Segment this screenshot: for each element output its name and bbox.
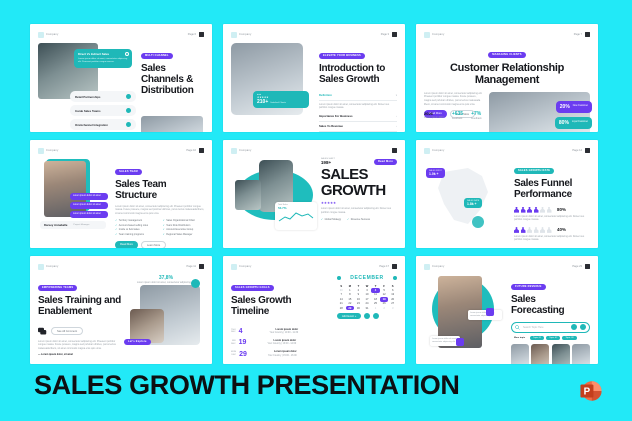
calendar-day[interactable]: 30 bbox=[354, 306, 363, 310]
slide-thumbnail-sales-channels[interactable]: Company Page 6 Direct Vs Indirect Sales … bbox=[30, 24, 212, 132]
timeline-event[interactable]: FRIDEC 19 Lorem ipsum dolor Your Country… bbox=[231, 339, 331, 346]
logo: Company bbox=[38, 32, 59, 38]
slide-title-line1: SALES bbox=[321, 167, 397, 183]
page-number: Page 11 bbox=[187, 265, 196, 268]
page-number: Page 23 bbox=[572, 265, 582, 268]
stat-label: Satisfied Clients bbox=[270, 102, 286, 104]
stat-item: +635 Feedback bbox=[452, 111, 463, 120]
stat-card: ●●● ★★★★★ 210+ Satisfied Clients bbox=[253, 91, 309, 108]
logo-label: Company bbox=[239, 265, 252, 268]
growth-icon bbox=[191, 279, 200, 288]
metric-pct: 80% bbox=[557, 207, 566, 212]
kpi-value: 20% bbox=[560, 104, 570, 110]
add-event-button[interactable]: Add Event + bbox=[337, 313, 361, 319]
event-day: 19 bbox=[239, 339, 247, 346]
check-icon bbox=[126, 108, 131, 113]
logo: Company bbox=[38, 264, 59, 270]
slide-title: Sales Growth Timeline bbox=[231, 296, 331, 318]
read-more-button[interactable]: Read More bbox=[374, 159, 397, 165]
person-card: Darsey Annabelle Project Manager bbox=[40, 221, 106, 229]
calendar-week-row: 28293031123 bbox=[337, 306, 397, 310]
search-bar[interactable]: Search Topic Here bbox=[511, 322, 590, 333]
badge: MULTI CHANNEL bbox=[141, 53, 173, 59]
logo-mark-icon bbox=[231, 32, 237, 38]
logo-mark-icon bbox=[231, 148, 237, 154]
logo: Company bbox=[231, 32, 252, 38]
logo: Company bbox=[424, 264, 445, 270]
chevron-right-icon: › bbox=[396, 125, 397, 128]
person-icon bbox=[527, 207, 532, 213]
kpi-label: New Customer bbox=[573, 105, 588, 108]
svg-text:P: P bbox=[584, 386, 591, 397]
list-item-label: Retail Partnerships bbox=[75, 95, 101, 99]
card-text: Lorem ipsum dolor sit amet, consectetur … bbox=[78, 58, 128, 65]
phone-mockup-back bbox=[235, 180, 261, 210]
metric-desc: Lorem ipsum dolor sit amet, consectetur … bbox=[514, 215, 590, 222]
hamburger-icon[interactable] bbox=[585, 264, 590, 269]
slide-photo-secondary bbox=[141, 116, 203, 132]
body-text: Lorem ipsum dolor sit amet, consectetur … bbox=[38, 340, 122, 351]
map-pin-icon bbox=[472, 216, 484, 228]
bullet-item: Account-based selling roles bbox=[115, 224, 156, 227]
map-tag-key: SALES RATE bbox=[467, 200, 479, 202]
quote: — Lorem ipsum dolor, sit amet bbox=[38, 353, 122, 356]
explore-button-label: Let's Explore bbox=[124, 339, 151, 345]
page-title: SALES GROWTH PRESENTATION bbox=[34, 370, 460, 401]
event-title: Lorem ipsum dolor bbox=[275, 328, 298, 331]
slide-thumbnail-grid: Company Page 6 Direct Vs Indirect Sales … bbox=[30, 24, 602, 366]
badge: SALES TEAM bbox=[115, 169, 142, 175]
calendar-action-icon[interactable] bbox=[364, 313, 370, 319]
search-placeholder: Search Topic Here bbox=[523, 326, 568, 329]
event-weekday-label: FRI bbox=[232, 340, 236, 342]
slide-thumbnail-funnel[interactable]: Company Page 14 SALES FIRST 1.0k + bbox=[416, 140, 598, 248]
person-icon bbox=[521, 207, 526, 213]
logo-mark-icon bbox=[424, 264, 430, 270]
page-number: Page 10 bbox=[186, 149, 196, 152]
body-text: Lorem ipsum dolor sit amet, consectetur … bbox=[424, 92, 484, 106]
timeline-event[interactable]: MONDEC 29 Lorem ipsum dolor Your Country… bbox=[231, 350, 331, 357]
page-number: Page 17 bbox=[379, 265, 389, 268]
slide-header: Company Page 6 bbox=[38, 30, 204, 39]
slide-thumbnail-introduction[interactable]: Company Page 3 Let's Grow ●●● ★★★★★ bbox=[223, 24, 405, 132]
thumbnail[interactable] bbox=[572, 344, 590, 364]
hamburger-icon[interactable] bbox=[585, 148, 590, 153]
chat-icon bbox=[456, 338, 464, 346]
check-icon bbox=[126, 94, 131, 99]
card-title: Direct Vs Indirect Sales bbox=[78, 52, 128, 56]
calendar-body: 3012345678910111213141516171819202122232… bbox=[337, 288, 397, 310]
event-meta: Your Country | 10:00 - 11:30 bbox=[270, 332, 299, 334]
event-weekday-label: MON bbox=[231, 351, 236, 353]
badge: FUTURE REVENUE bbox=[511, 284, 546, 290]
event-month-label: DEC bbox=[231, 331, 236, 333]
slide-title: Sales Forecasting bbox=[511, 295, 590, 317]
person-icon-empty bbox=[527, 227, 532, 233]
slide-title: Sales Funnel Performance bbox=[514, 179, 590, 201]
page-number: Page 7 bbox=[574, 33, 582, 36]
stat-label: Feedback bbox=[471, 117, 482, 120]
search-submit-icon[interactable] bbox=[580, 324, 586, 330]
thumbnail-row bbox=[511, 344, 590, 364]
logo-label: Company bbox=[46, 149, 59, 152]
logo-mark-icon bbox=[38, 264, 44, 270]
slide-thumbnail-forecasting[interactable]: Company Page 23 Lorem ipsum dolor sit am… bbox=[416, 256, 598, 364]
slide-title: Sales Training and Enablement bbox=[38, 296, 122, 318]
logo: Company bbox=[424, 32, 445, 38]
logo-label: Company bbox=[432, 265, 445, 268]
person-icon bbox=[534, 207, 539, 213]
slide-header: Company Page 11 bbox=[38, 262, 204, 271]
kpi-label: Loyal Customer bbox=[572, 121, 588, 124]
person-icon-empty bbox=[547, 207, 552, 213]
bullet-item: Inside vs field sales bbox=[115, 228, 156, 231]
map-tag-value: 1.8k + bbox=[467, 202, 479, 206]
calendar-action-icon[interactable] bbox=[373, 313, 379, 319]
event-weekday: FRIDEC bbox=[231, 340, 236, 346]
chevron-right-icon: › bbox=[396, 115, 397, 118]
person-icon-empty bbox=[534, 227, 539, 233]
logo-mark-icon bbox=[38, 32, 44, 38]
bullet-item: Account Executive Group bbox=[163, 228, 204, 231]
accordion-item[interactable]: Importance For Business › bbox=[319, 112, 397, 122]
metric-row: 80% bbox=[514, 207, 590, 213]
stars: ★★★★★ bbox=[321, 201, 397, 205]
calendar-day[interactable]: 2 bbox=[380, 306, 389, 310]
body-text: Lorem ipsum dolor sit amet, consectetur … bbox=[115, 205, 204, 216]
hamburger-icon[interactable] bbox=[199, 32, 204, 37]
callout: Lorem ipsum dolor sit amet bbox=[70, 211, 108, 218]
calendar-day[interactable]: 1 bbox=[371, 306, 380, 310]
topic-tag[interactable]: Topic 01 bbox=[530, 336, 544, 340]
slide-title: Customer Relationship Management bbox=[424, 63, 590, 87]
hamburger-icon[interactable] bbox=[392, 148, 397, 153]
bullet-item: Revenue Success bbox=[347, 218, 370, 221]
info-card: Direct Vs Indirect Sales Lorem ipsum dol… bbox=[74, 49, 132, 68]
list-item-label: Omnichannel Integration bbox=[75, 123, 108, 127]
person-name: Darsey Annabelle bbox=[44, 223, 67, 227]
accordion-label: Importance For Business bbox=[319, 114, 353, 118]
metric-desc: Lorem ipsum dolor sit amet, consectetur … bbox=[514, 235, 590, 242]
callout: Lorem ipsum dolor sit amet bbox=[70, 193, 108, 200]
logo-label: Company bbox=[46, 265, 59, 268]
timeline-event[interactable]: THUDEC 4 Lorem ipsum dolor Your Country … bbox=[231, 328, 331, 335]
list-item[interactable]: Omnichannel Integration bbox=[70, 119, 136, 130]
idea-icon bbox=[486, 308, 494, 316]
accordion-item[interactable]: Definition ▾ bbox=[319, 91, 397, 101]
calendar-day[interactable]: 31 bbox=[363, 306, 372, 310]
tags-row: More topic Topic 01 Topic 02 Topic 03 bbox=[511, 336, 590, 340]
logo-label: Company bbox=[432, 33, 445, 36]
logo: Company bbox=[38, 148, 59, 154]
bullet-item: Global Strategy bbox=[321, 218, 341, 221]
event-title: Lorem ipsum dolor bbox=[274, 339, 297, 342]
explore-button[interactable]: Let's Explore bbox=[124, 329, 151, 347]
logo-mark-icon bbox=[424, 32, 430, 38]
comment-icon bbox=[38, 327, 47, 336]
calendar-day[interactable]: 3 bbox=[388, 306, 397, 310]
hamburger-icon[interactable] bbox=[585, 32, 590, 37]
stat-label: Feedback bbox=[452, 117, 463, 120]
bullet-item: Regional Sales Manager bbox=[163, 233, 204, 236]
chart-value: 53.7% bbox=[278, 206, 314, 210]
calendar-day[interactable]: 28 bbox=[337, 306, 346, 310]
logo: Company bbox=[424, 148, 445, 154]
hamburger-icon[interactable] bbox=[199, 148, 204, 153]
map-region: SALES FIRST 1.0k + SALES RATE 1.8k + bbox=[424, 158, 510, 242]
logo-label: Company bbox=[432, 149, 445, 152]
thumbnail[interactable] bbox=[552, 344, 570, 364]
chevron-down-icon: ▾ bbox=[396, 94, 397, 97]
slide-title: Introduction to Sales Growth bbox=[319, 64, 397, 86]
logo-label: Company bbox=[239, 33, 252, 36]
person-role: Project Manager bbox=[73, 224, 89, 226]
slide-header: Company bbox=[231, 146, 397, 155]
bullet-item: Team training programs bbox=[115, 233, 156, 236]
accordion-body: Lorem ipsum dolor sit amet, consectetur … bbox=[319, 101, 397, 112]
logo-mark-icon bbox=[424, 148, 430, 154]
person-icon-empty bbox=[547, 227, 552, 233]
logo-mark-icon bbox=[38, 148, 44, 154]
person-icon bbox=[521, 227, 526, 233]
callout: Lorem ipsum dolor sit amet, consectetur … bbox=[468, 310, 502, 320]
event-day: 4 bbox=[239, 328, 243, 335]
accordion-item[interactable]: Sales Vs Revenue › bbox=[319, 122, 397, 132]
callout: Lorem ipsum dolor sit amet bbox=[70, 202, 108, 209]
stat-item: 2026 Lorem ipsum dolor bbox=[424, 111, 444, 120]
slide-title: Sales Team Structure bbox=[115, 180, 204, 202]
list-item[interactable]: Inside Sales Teams bbox=[70, 105, 136, 116]
logo-label: Company bbox=[46, 33, 59, 36]
kpi-card: 80% Loyal Customer bbox=[555, 117, 592, 129]
close-icon[interactable] bbox=[125, 52, 129, 56]
tags-label: More topic bbox=[511, 336, 528, 340]
badge: EMPOWERING TEAMS bbox=[38, 285, 77, 291]
event-title: Lorem ipsum dolor bbox=[274, 350, 297, 353]
slide-title-line2: GROWTH bbox=[321, 183, 397, 199]
event-month-label: DEC bbox=[231, 354, 236, 356]
badge: SALES GROWTH RATE bbox=[514, 168, 554, 174]
next-month-icon[interactable] bbox=[393, 276, 397, 280]
stat-value: 198+ bbox=[321, 160, 335, 165]
thumbnail[interactable] bbox=[511, 344, 529, 364]
slide-header: Company Page 17 bbox=[231, 262, 397, 271]
slide-header: Company Page 3 bbox=[231, 30, 397, 39]
line-chart-icon bbox=[278, 211, 314, 223]
kpi-value: 80% bbox=[559, 120, 569, 126]
topic-tag[interactable]: Topic 02 bbox=[546, 336, 560, 340]
bullet-item: Sales Organizational Chart bbox=[163, 219, 204, 222]
badge: ELEVATE YOUR BUSINESS bbox=[319, 53, 365, 59]
event-month-label: DEC bbox=[231, 343, 236, 345]
map-tag: SALES FIRST 1.0k + bbox=[426, 168, 445, 178]
stat-value: 210+ bbox=[257, 99, 268, 105]
metric-row: 40% bbox=[514, 227, 590, 233]
slide-thumbnail-training[interactable]: Company Page 11 EMPOWERING TEAMS Sales T… bbox=[30, 256, 212, 364]
topic-tag[interactable]: Topic 03 bbox=[562, 336, 576, 340]
map-tag: SALES RATE 1.8k + bbox=[464, 198, 482, 208]
event-weekday: THUDEC bbox=[231, 329, 236, 335]
bullet-item: Territory management bbox=[115, 219, 156, 222]
page-number: Page 3 bbox=[381, 33, 389, 36]
learn-more-button[interactable]: Learn More bbox=[141, 241, 166, 248]
list-item[interactable]: Retail Partnerships bbox=[70, 91, 136, 102]
hamburger-icon[interactable] bbox=[392, 32, 397, 37]
logo: Company bbox=[231, 148, 252, 154]
person-icon-empty bbox=[540, 227, 545, 233]
slide-thumbnail-crm[interactable]: Company Page 7 MANAGING CLIENTS Customer… bbox=[416, 24, 598, 132]
slide-thumbnail-sales-growth[interactable]: Company Total Sales 53.7% bbox=[223, 140, 405, 248]
map-tag-value: 1.0k + bbox=[429, 172, 442, 176]
search-filter-icon[interactable] bbox=[571, 324, 577, 330]
slide-header: Company Page 23 bbox=[424, 262, 590, 271]
hamburger-icon[interactable] bbox=[392, 264, 397, 269]
stat-item: +7% Feedback bbox=[471, 111, 482, 120]
logo: Company bbox=[231, 264, 252, 270]
chart-card: Total Sales 53.7% bbox=[275, 202, 317, 230]
badge: SALES GROWTH GOALS bbox=[231, 285, 274, 291]
kpi-card: 20% New Customer bbox=[556, 101, 592, 113]
event-meta: Your Country | 15:00 - 16:00 bbox=[268, 355, 297, 357]
bullet-item: Team Role Distribution bbox=[163, 224, 204, 227]
slide-header: Company Page 10 bbox=[38, 146, 204, 155]
accordion-label: Sales Vs Revenue bbox=[319, 124, 343, 128]
slide-thumbnail-timeline[interactable]: Company Page 17 SALES GROWTH GOALS Sales… bbox=[223, 256, 405, 364]
page-number: Page 14 bbox=[572, 149, 582, 152]
calendar-day[interactable]: 29 bbox=[346, 306, 355, 310]
body-text: Lorem ipsum dolor sit amet, consectetur … bbox=[321, 207, 397, 214]
person-icon bbox=[514, 207, 519, 213]
stats-row: 2026 Lorem ipsum dolor +635 Feedback +7%… bbox=[424, 111, 482, 120]
event-weekday: MONDEC bbox=[231, 351, 236, 357]
logo-label: Company bbox=[239, 149, 252, 152]
person-icon bbox=[514, 227, 519, 233]
calendar-month: DECEMBER bbox=[350, 275, 383, 281]
calendar-table: S M T W T F S 30123456789101112131415161… bbox=[337, 284, 397, 310]
logo-mark-icon bbox=[231, 264, 237, 270]
see-all-comment-button[interactable]: See All Comment bbox=[51, 327, 83, 335]
slide-header: Company Page 14 bbox=[424, 146, 590, 155]
read-more-button[interactable]: Read More bbox=[115, 241, 138, 248]
badge: MANAGING CLIENTS bbox=[488, 52, 525, 58]
slide-title: Sales Channels & Distribution bbox=[141, 64, 203, 96]
slide-thumbnail-team-structure[interactable]: Company Page 10 Lorem ipsum dolor sit am… bbox=[30, 140, 212, 248]
person-icon-empty bbox=[540, 207, 545, 213]
powerpoint-icon: P bbox=[578, 378, 604, 404]
event-meta: Your Country | 13:00 - 14:00 bbox=[267, 343, 296, 345]
check-icon bbox=[126, 122, 131, 127]
map-tag-key: SALES FIRST bbox=[429, 170, 442, 172]
list-item-label: Inside Sales Teams bbox=[75, 109, 101, 113]
accordion-label: Definition bbox=[319, 93, 332, 97]
event-day: 29 bbox=[239, 351, 247, 358]
hamburger-icon[interactable] bbox=[199, 264, 204, 269]
page-number: Page 6 bbox=[188, 33, 196, 36]
slide-header: Company Page 7 bbox=[424, 30, 590, 39]
stat-label: Lorem ipsum dolor bbox=[424, 116, 444, 119]
prev-month-icon[interactable] bbox=[337, 276, 341, 280]
calendar-widget[interactable]: DECEMBER S M T W T F S 301234 bbox=[337, 275, 397, 362]
metric-pct: 40% bbox=[557, 227, 566, 232]
thumbnail[interactable] bbox=[531, 344, 549, 364]
event-weekday-label: THU bbox=[231, 329, 236, 331]
search-icon bbox=[515, 325, 520, 330]
